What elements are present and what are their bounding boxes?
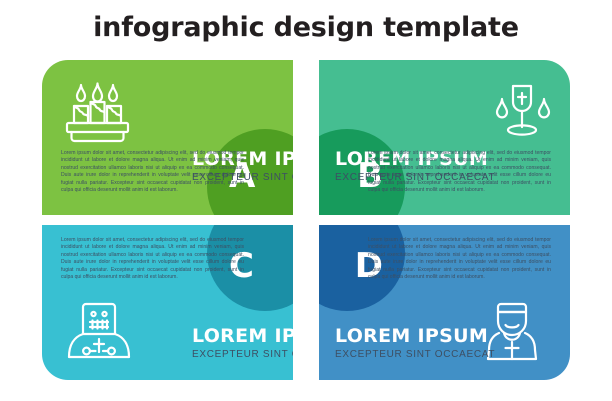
panel-title-d: LOREM IPSUM: [335, 325, 495, 347]
panel-body-d: Lorem ipsum dolor sit amet, consectetur …: [368, 237, 551, 281]
panel-subtitle-d: EXCEPTEUR SINT OCCAECAT: [335, 348, 495, 361]
infographic-panel-b[interactable]: B LOREM IPSUM EXCEPTEUR SINT OCCAECAT Lo…: [319, 60, 570, 215]
page-title: infographic design template: [0, 12, 612, 44]
panel-heading-c: LOREM IPSUM EXCEPTEUR SINT OCCAECAT: [192, 325, 293, 361]
panel-body-a: Lorem ipsum dolor sit amet, consectetur …: [61, 150, 244, 194]
infographic-panel-d[interactable]: D LOREM IPSUM EXCEPTEUR SINT OCCAECAT Lo…: [319, 225, 570, 380]
panel-subtitle-c: EXCEPTEUR SINT OCCAECAT: [192, 348, 293, 361]
panel-body-b: Lorem ipsum dolor sit amet, consectetur …: [368, 150, 551, 194]
panel-title-c: LOREM IPSUM: [192, 325, 293, 347]
church-candles-icon: [61, 82, 133, 144]
confession-priest-icon: [66, 301, 132, 363]
panel-heading-d: LOREM IPSUM EXCEPTEUR SINT OCCAECAT: [335, 325, 495, 361]
infographic-panel-c[interactable]: C LOREM IPSUM EXCEPTEUR SINT OCCAECAT Lo…: [42, 225, 293, 380]
holy-chalice-water-drops-icon: [487, 82, 557, 144]
panel-body-c: Lorem ipsum dolor sit amet, consectetur …: [61, 237, 244, 281]
infographic-panel-a[interactable]: A LOREM IPSUM EXCEPTEUR SINT OCCAECAT Lo…: [42, 60, 293, 215]
